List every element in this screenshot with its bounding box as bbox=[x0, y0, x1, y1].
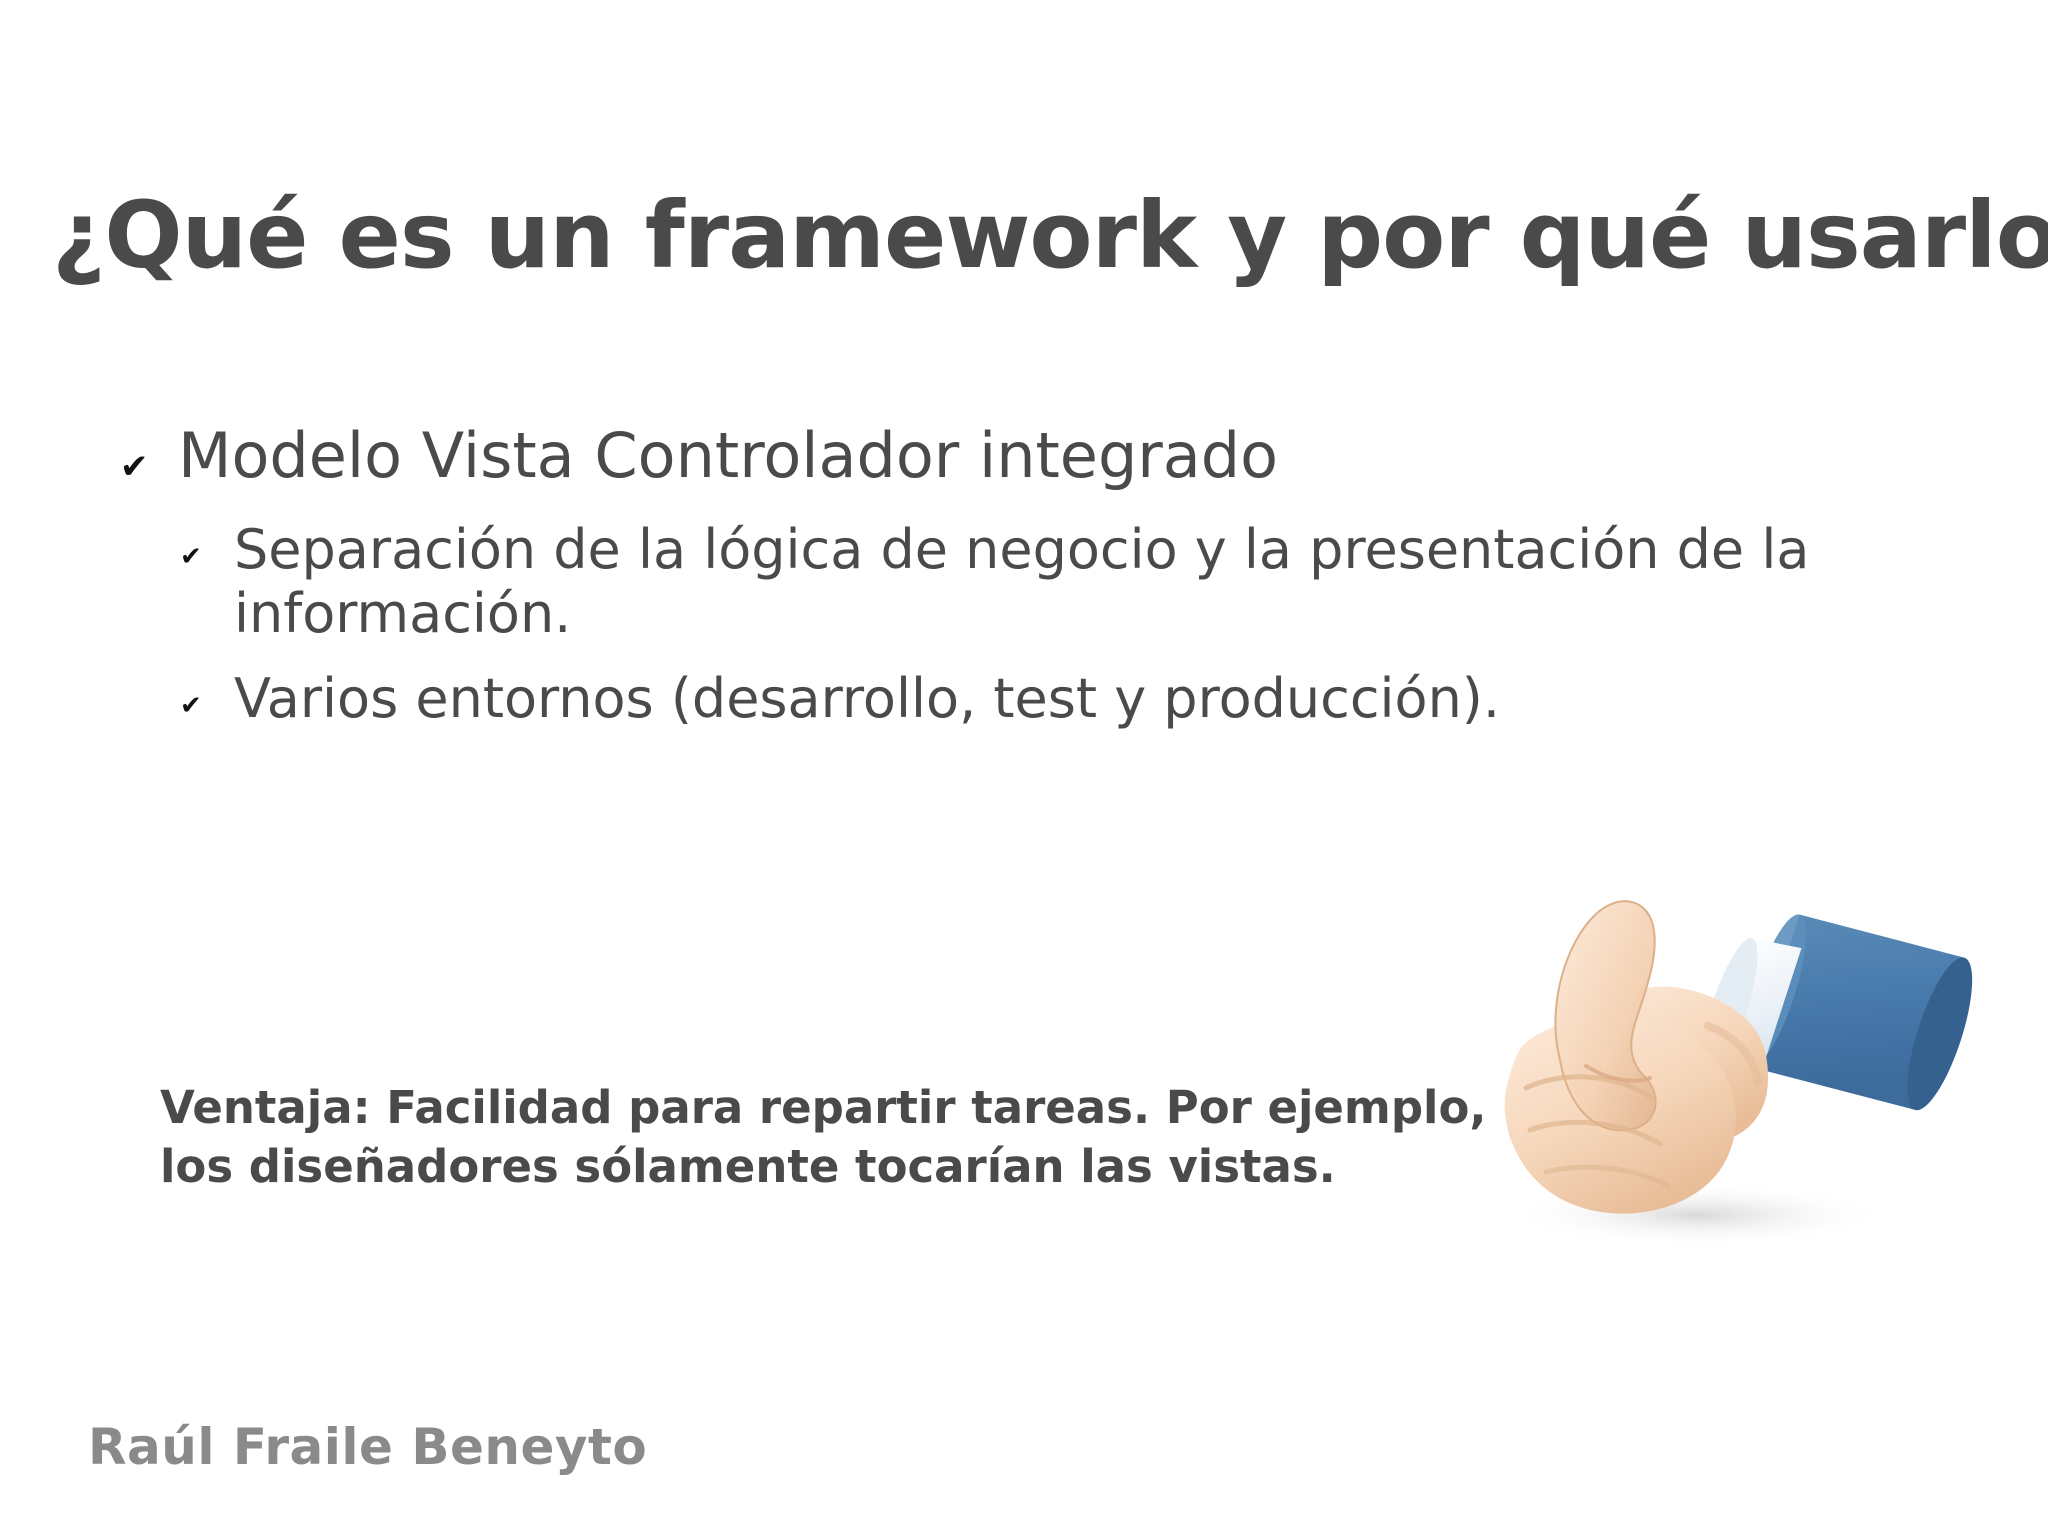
footer-author: Raúl Fraile Beneyto bbox=[88, 1418, 647, 1476]
bullet-level1-text: Modelo Vista Controlador integrado bbox=[178, 420, 1278, 492]
list-item: ✔ Modelo Vista Controlador integrado bbox=[120, 420, 1940, 492]
check-icon: ✔ bbox=[180, 518, 234, 570]
advantage-note-line-1: Ventaja: Facilidad para repartir tareas.… bbox=[160, 1078, 1620, 1137]
page-title: ¿Qué es un framework y por qué usarlo? bbox=[52, 188, 2012, 285]
bullet-level2-text: Varios entornos (desarrollo, test y prod… bbox=[234, 667, 1500, 731]
bullet-list: ✔ Modelo Vista Controlador integrado ✔ S… bbox=[120, 420, 1940, 753]
list-item: ✔ Separación de la lógica de negocio y l… bbox=[180, 518, 1940, 645]
bullet-level2-text: Separación de la lógica de negocio y la … bbox=[234, 518, 1834, 645]
slide-canvas: ¿Qué es un framework y por qué usarlo? ✔… bbox=[0, 0, 2048, 1535]
sub-bullet-list: ✔ Separación de la lógica de negocio y l… bbox=[180, 518, 1940, 731]
check-icon: ✔ bbox=[180, 667, 234, 719]
list-item: ✔ Varios entornos (desarrollo, test y pr… bbox=[180, 667, 1940, 731]
check-icon: ✔ bbox=[120, 420, 178, 484]
advantage-note-line-2: los diseñadores sólamente tocarían las v… bbox=[160, 1137, 1620, 1196]
advantage-note: Ventaja: Facilidad para repartir tareas.… bbox=[160, 1078, 1620, 1197]
